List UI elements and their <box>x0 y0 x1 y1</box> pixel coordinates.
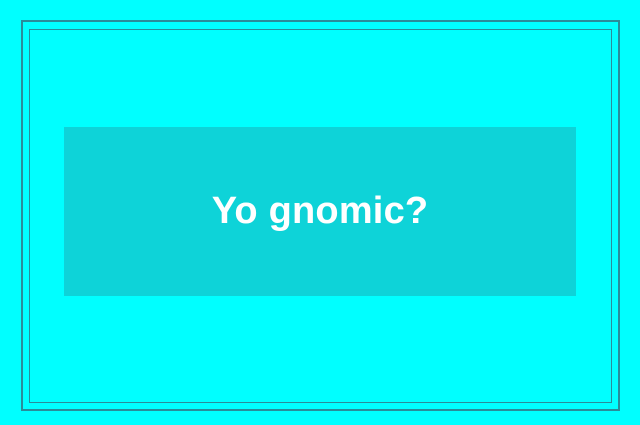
poster-canvas: Yo gnomic? <box>0 0 640 425</box>
headline-banner: Yo gnomic? <box>64 127 576 296</box>
headline-text: Yo gnomic? <box>212 191 429 233</box>
